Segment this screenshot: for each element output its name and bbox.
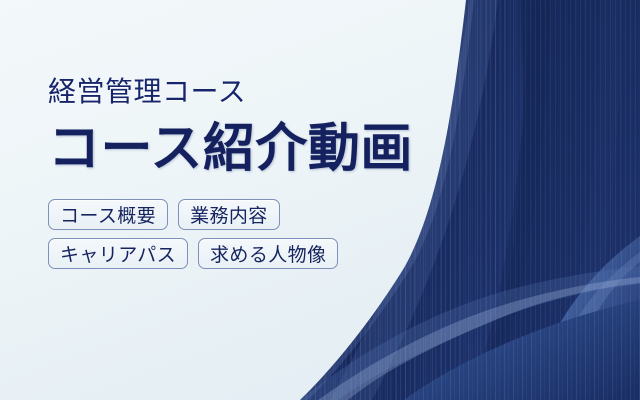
tag-job-description[interactable]: 業務内容 bbox=[178, 199, 280, 230]
topic-tag-list: コース概要 業務内容 キャリアパス 求める人物像 bbox=[48, 199, 408, 269]
banner-content: 経営管理コース コース紹介動画 コース概要 業務内容 キャリアパス 求める人物像 bbox=[48, 78, 428, 269]
course-intro-banner: 経営管理コース コース紹介動画 コース概要 業務内容 キャリアパス 求める人物像 bbox=[0, 0, 640, 400]
tag-career-path[interactable]: キャリアパス bbox=[48, 238, 188, 269]
page-title: コース紹介動画 bbox=[48, 123, 428, 177]
tag-ideal-candidate[interactable]: 求める人物像 bbox=[198, 238, 338, 269]
tag-course-overview[interactable]: コース概要 bbox=[48, 199, 168, 230]
course-subtitle: 経営管理コース bbox=[48, 78, 428, 107]
